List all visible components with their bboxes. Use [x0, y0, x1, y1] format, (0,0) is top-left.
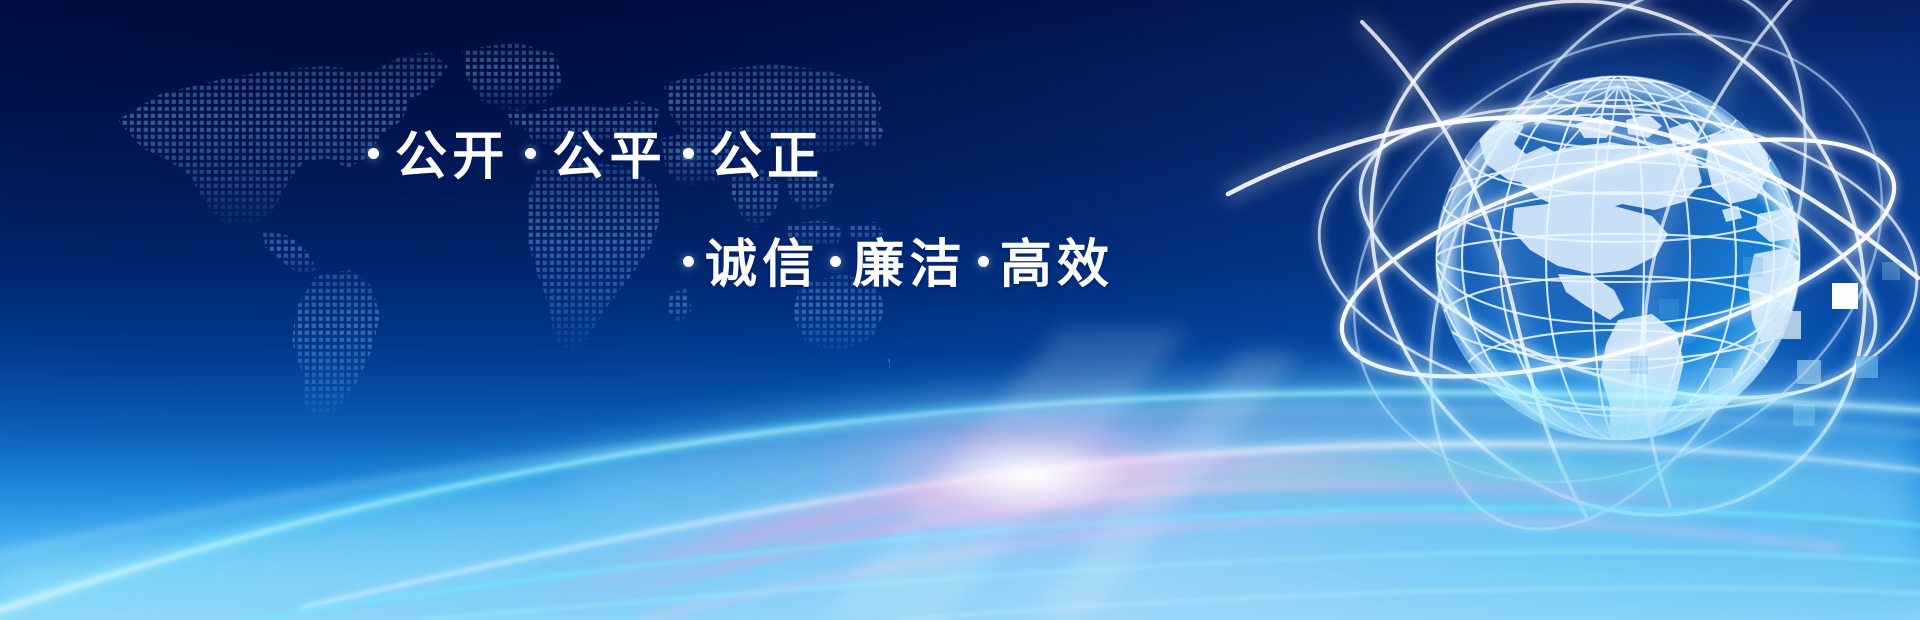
- light-wave-graphic: [0, 0, 1920, 620]
- banner-root: 公开公平公正 诚信廉洁高效: [0, 0, 1920, 620]
